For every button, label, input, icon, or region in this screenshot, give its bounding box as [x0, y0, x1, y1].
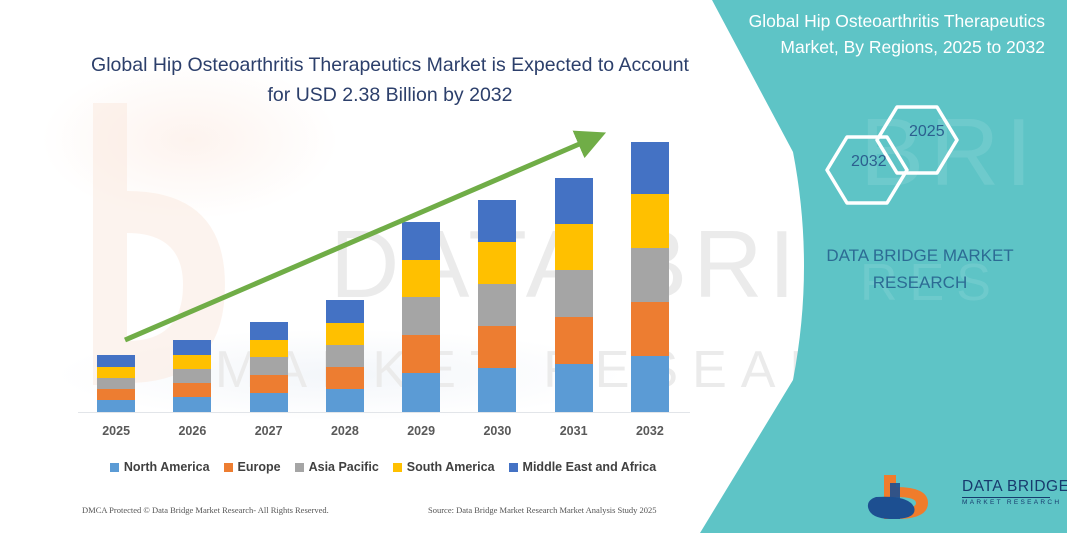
infographic-root: DATA BRIDGE MARKET RESEARCH Global Hip O… — [0, 0, 1067, 533]
legend-swatch-icon — [393, 463, 402, 472]
bar-column — [94, 120, 138, 412]
chart-title: Global Hip Osteoarthritis Therapeutics M… — [80, 50, 700, 110]
legend-item[interactable]: Middle East and Africa — [509, 460, 657, 474]
legend-item[interactable]: South America — [393, 460, 495, 474]
bar-column — [247, 120, 291, 412]
legend-swatch-icon — [110, 463, 119, 472]
bar-segment — [250, 375, 288, 393]
footer: DMCA Protected © Data Bridge Market Rese… — [0, 505, 700, 527]
bar-segment — [402, 222, 440, 260]
bar-segment — [478, 242, 516, 284]
bar-segment — [326, 323, 364, 345]
bar-segment — [555, 224, 593, 270]
bar-segment — [173, 355, 211, 369]
logo-sub-text: MARKET RESEARCH — [962, 499, 1052, 506]
legend-label: Europe — [238, 460, 281, 474]
bar-segment — [555, 364, 593, 412]
legend-label: Asia Pacific — [309, 460, 379, 474]
bar-segment — [97, 367, 135, 378]
bar-column — [475, 120, 519, 412]
bar-segment — [402, 297, 440, 335]
x-axis-label: 2026 — [170, 424, 214, 438]
legend-swatch-icon — [509, 463, 518, 472]
bar-segment — [250, 357, 288, 375]
bar-column — [323, 120, 367, 412]
bar-segment — [326, 389, 364, 412]
bar-segment — [402, 260, 440, 297]
x-axis-label: 2027 — [247, 424, 291, 438]
x-axis-label: 2030 — [475, 424, 519, 438]
bar-segment — [402, 335, 440, 373]
bar-segment — [173, 383, 211, 397]
logo-text: DATA BRIDGE MARKET RESEARCH — [962, 478, 1052, 506]
bar-segment — [478, 326, 516, 368]
legend-item[interactable]: Europe — [224, 460, 281, 474]
bar-column — [170, 120, 214, 412]
bar-segment — [631, 142, 669, 194]
panel-title: Global Hip Osteoarthritis Therapeutics M… — [735, 8, 1045, 60]
stacked-bar-chart — [78, 120, 688, 412]
legend-swatch-icon — [224, 463, 233, 472]
bar-segment — [173, 397, 211, 412]
footer-source: Source: Data Bridge Market Research Mark… — [428, 505, 657, 515]
bar-segment — [173, 369, 211, 383]
bar-segment — [631, 302, 669, 356]
legend-label: North America — [124, 460, 210, 474]
chart-legend: North AmericaEuropeAsia PacificSouth Ame… — [78, 460, 688, 474]
bar-segment — [326, 300, 364, 323]
bar-segment — [555, 270, 593, 317]
bar-segment — [631, 194, 669, 248]
bar-segment — [631, 356, 669, 412]
x-axis-label: 2025 — [94, 424, 138, 438]
x-axis-label: 2032 — [628, 424, 672, 438]
x-axis-line — [78, 412, 690, 413]
bar-segment — [478, 284, 516, 326]
legend-label: South America — [407, 460, 495, 474]
bar-segment — [97, 378, 135, 389]
x-axis-label: 2031 — [552, 424, 596, 438]
bar-segment — [555, 317, 593, 364]
legend-item[interactable]: North America — [110, 460, 210, 474]
logo-divider — [962, 497, 1050, 498]
bar-column — [628, 120, 672, 412]
legend-swatch-icon — [295, 463, 304, 472]
bar-segment — [326, 367, 364, 389]
x-axis-label: 2028 — [323, 424, 367, 438]
bar-segment — [250, 322, 288, 340]
bar-segment — [97, 389, 135, 400]
logo-main-text: DATA BRIDGE — [962, 478, 1052, 496]
bar-segment — [326, 345, 364, 367]
bar-segment — [478, 200, 516, 242]
panel-brand-text: DATA BRIDGE MARKET RESEARCH — [790, 242, 1050, 296]
footer-copyright: DMCA Protected © Data Bridge Market Rese… — [82, 505, 329, 515]
hexagon-badges: 2032 2025 — [815, 95, 995, 205]
bar-segment — [631, 248, 669, 302]
bar-segment — [250, 340, 288, 357]
bar-segment — [97, 355, 135, 367]
hexagon-label-2025: 2025 — [909, 123, 945, 141]
legend-label: Middle East and Africa — [523, 460, 657, 474]
legend-item[interactable]: Asia Pacific — [295, 460, 379, 474]
bar-segment — [97, 400, 135, 412]
hexagon-shapes-icon — [815, 95, 995, 205]
bar-column — [552, 120, 596, 412]
bar-segment — [555, 178, 593, 224]
hexagon-label-2032: 2032 — [851, 153, 887, 171]
bar-segment — [402, 373, 440, 412]
x-axis-labels: 20252026202720282029203020312032 — [78, 424, 688, 438]
bar-segment — [173, 340, 211, 355]
bar-column — [399, 120, 443, 412]
x-axis-label: 2029 — [399, 424, 443, 438]
bar-segment — [478, 368, 516, 412]
bar-segment — [250, 393, 288, 412]
